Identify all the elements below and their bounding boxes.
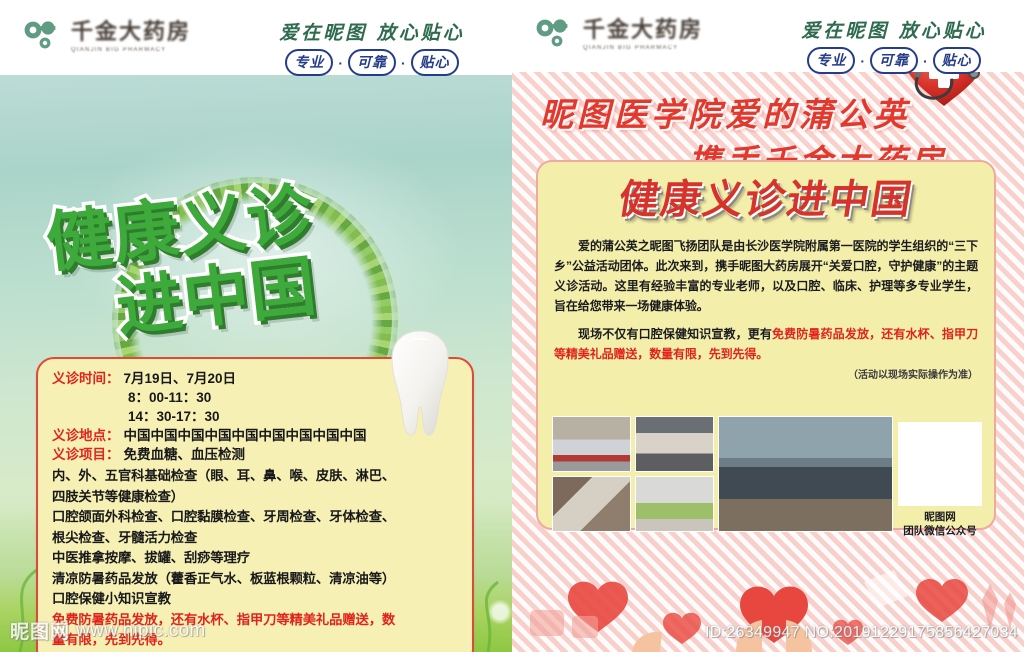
massage-therapy-photo-image [635,416,714,472]
photo-column-mid [635,416,714,532]
slogan-separator: · [860,53,865,69]
watermark-url: www.nipic.com [76,620,206,642]
pharmacy-logo: 千金大药房 QIANJIN BIG PHARMACY [534,15,703,55]
left-panel-background: 健康义诊 进中国 义诊时间： 7月19日、7 [0,75,512,652]
photo-gallery [552,416,893,532]
time-value: 7月19日、7月20日 [120,369,237,388]
slogan-badge: 贴心 [933,47,981,74]
slogan-separator: · [923,53,928,69]
pharmacy-storefront-photo-image [718,416,893,532]
watermark-brand: 昵图网 [10,617,70,644]
qr-caption-line-2: 团队微信公众号 [898,524,982,538]
dental-checkup-photo-image [552,476,631,532]
green-cross-pharmacy-logo-icon [22,17,62,57]
header-slogan: 爱在昵图 放心贴心 专业 · 可靠 · 贴心 [784,16,1004,74]
group-photo-banner-image [552,416,631,472]
right-paragraph-2: 现场不仅有口腔保健知识宣教，更有免费防暑药品发放，还有水杯、指甲刀等精美礼品赠送… [554,324,978,364]
qr-caption-line-1: 昵图网 [898,510,982,524]
right-big-title: 健康义诊进中国 [551,180,981,220]
service-line: 清凉防暑药品发放（藿香正气水、板蓝根颗粒、清凉油等） [52,569,458,590]
left-poster-panel: 健康义诊 进中国 义诊时间： 7月19日、7 [0,0,512,652]
slogan-badges: 专业 · 可靠 · 贴心 [262,49,482,76]
pharmacy-logo-name: 千金大药房 [71,21,191,43]
qr-code-image [898,422,982,506]
slogan-badge: 可靠 [348,49,396,76]
slogan-badge: 专业 [807,47,855,74]
item-label: 义诊项目： [52,445,120,464]
pharmacy-logo-en: QIANJIN BIG PHARMACY [71,47,191,53]
info-row-item: 义诊项目： 免费血糖、血压检测 [52,445,458,464]
right-paragraph-2-plain: 现场不仅有口腔保健知识宣教，更有 [578,327,772,341]
time-label: 义诊时间： [52,369,120,388]
slogan-badges: 专业 · 可靠 · 贴心 [784,47,1004,74]
right-header-bar: 千金大药房 QIANJIN BIG PHARMACY 爱在昵图 放心贴心 专业 … [512,0,1024,72]
photo-column-left [552,416,631,532]
right-watermark-id: ID:26349947 NO:20191229175856427034 [705,624,1018,642]
item-value: 免费血糖、血压检测 [120,445,246,464]
slogan-badge: 专业 [285,49,333,76]
green-cross-pharmacy-logo-icon [534,15,574,55]
medicine-boxes-photo-image [635,476,714,532]
slogan-separator: · [401,55,406,71]
service-line: 根尖检查、牙髓活力检查 [52,528,458,549]
service-line: 口腔颌面外科检查、口腔黏膜检查、牙周检查、牙体检查、 [52,507,458,528]
pharmacy-logo-en: QIANJIN BIG PHARMACY [583,45,703,51]
service-line: 口腔保健小知识宣教 [52,589,458,610]
slogan-badge: 可靠 [870,47,918,74]
left-header-bar: 千金大药房 QIANJIN BIG PHARMACY 爱在昵图 放心贴心 专业 … [0,0,512,75]
poster-root: 健康义诊 进中国 义诊时间： 7月19日、7 [0,0,1024,652]
pharmacy-logo-text: 千金大药房 QIANJIN BIG PHARMACY [71,21,191,53]
pharmacy-logo-name: 千金大药房 [583,19,703,41]
service-line: 内、外、五官科基础检查（眼、耳、鼻、喉、皮肤、淋巴、 [52,466,458,487]
slogan-top-text: 爱在昵图 放心贴心 [784,16,1004,43]
slogan-badge: 贴心 [411,49,459,76]
header-slogan: 爱在昵图 放心贴心 专业 · 可靠 · 贴心 [262,18,482,76]
right-title-line-1: 昵图医学院爱的蒲公英 [540,98,940,131]
tooth-icon [388,329,452,439]
service-line: 中医推拿按摩、拔罐、刮痧等理疗 [52,548,458,569]
place-value: 中国中国中国中国中国中国中国中国中国 [120,426,367,445]
qr-caption: 昵图网 团队微信公众号 [898,510,982,538]
place-label: 义诊地点： [52,426,120,445]
right-paragraph-1: 爱的蒲公英之昵图飞扬团队是由长沙医学院附属第一医院的学生组织的“三下乡”公益活动… [554,236,978,316]
pharmacy-logo-text: 千金大药房 QIANJIN BIG PHARMACY [583,19,703,51]
service-line: 四肢关节等健康检查） [52,487,458,508]
slogan-separator: · [338,55,343,71]
qr-code-block: 昵图网 团队微信公众号 [898,422,982,538]
left-watermark: 昵图网 www.nipic.com [10,617,206,644]
pharmacy-logo: 千金大药房 QIANJIN BIG PHARMACY [22,17,191,57]
slogan-top-text: 爱在昵图 放心贴心 [262,18,482,45]
right-note: （活动以现场实际操作为准） [554,366,978,381]
right-poster-panel: 昵图医学院爱的蒲公英 携手千金大药房 [512,0,1024,652]
